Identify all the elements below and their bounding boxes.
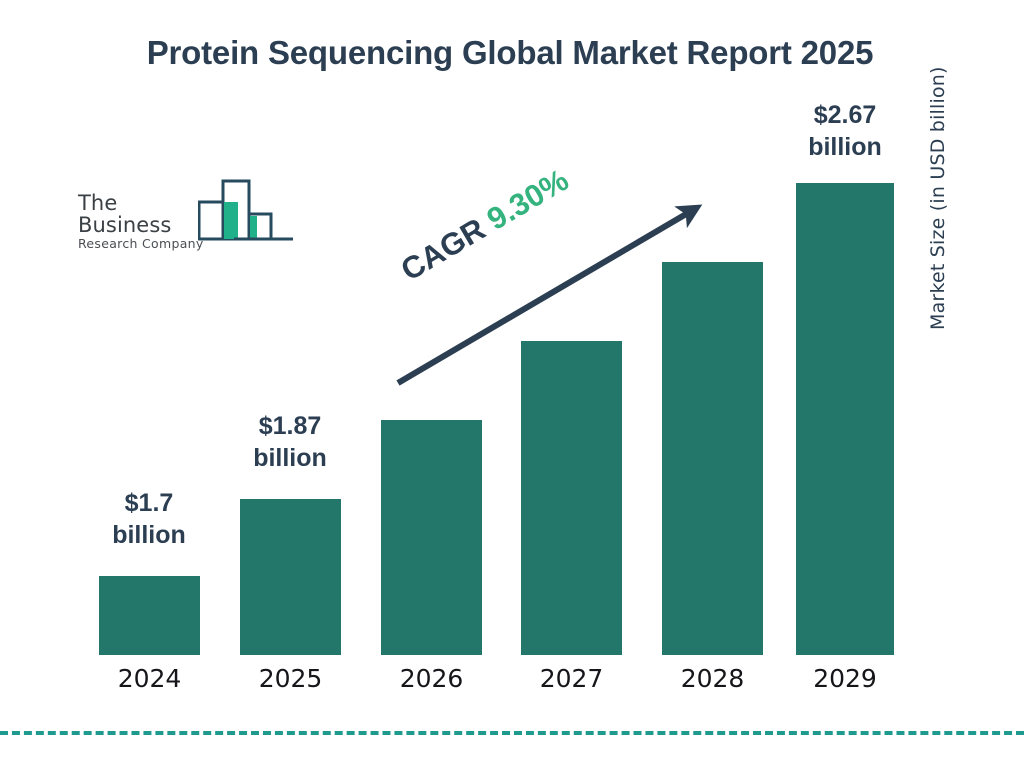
x-tick-label-2029: 2029	[796, 664, 894, 693]
bar-2024	[99, 576, 200, 655]
y-axis-title-text: Market Size (in USD billion)	[927, 0, 949, 330]
value-label-2025: $1.87 billion	[205, 410, 375, 474]
cagr-annotation: CAGR 9.30%	[395, 162, 575, 288]
value-label-2024: $1.7 billion	[64, 487, 234, 551]
cagr-label: CAGR	[395, 211, 491, 287]
bar-2025	[240, 499, 341, 655]
y-axis-title: Market Size (in USD billion)	[901, 0, 941, 330]
footer-divider	[0, 731, 1024, 735]
x-tick-label-2025: 2025	[240, 664, 341, 693]
bar-2029	[796, 183, 894, 655]
x-tick-label-2028: 2028	[662, 664, 763, 693]
cagr-value: 9.30%	[481, 162, 575, 237]
x-tick-label-2024: 2024	[99, 664, 200, 693]
bar-2027	[521, 341, 622, 655]
bar-2026	[381, 420, 482, 655]
x-tick-label-2027: 2027	[521, 664, 622, 693]
bar-2028	[662, 262, 763, 655]
bar-chart-plot: $1.7 billion $1.87 billion $2.67 billion…	[0, 0, 1024, 768]
x-tick-label-2026: 2026	[381, 664, 482, 693]
